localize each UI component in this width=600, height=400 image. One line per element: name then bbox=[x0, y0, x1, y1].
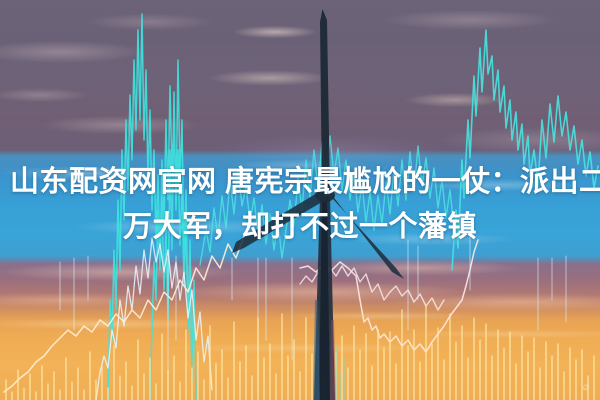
watermark-icon: ⌀ bbox=[581, 381, 591, 393]
cover-image: 山东配资网官网 唐宪宗最尴尬的一仗：派出二十 万大军，却打不过一个藩镇 ⌀ bbox=[0, 0, 600, 400]
headline-line-2: 万大军，却打不过一个藩镇 bbox=[10, 205, 590, 250]
headline-text: 山东配资网官网 唐宪宗最尴尬的一仗：派出二十 万大军，却打不过一个藩镇 bbox=[0, 160, 600, 250]
headline-line-1: 山东配资网官网 唐宪宗最尴尬的一仗：派出二十 bbox=[10, 160, 590, 205]
